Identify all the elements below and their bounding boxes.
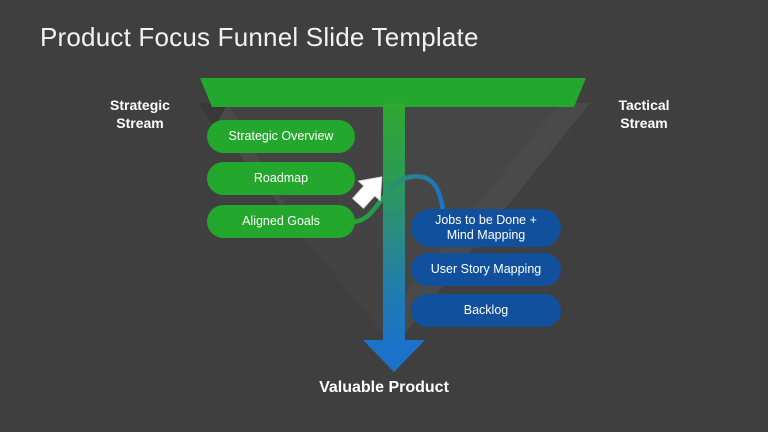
outcome-label: Valuable Product [258,379,510,397]
funnel-diagram [0,0,768,432]
tactical-stream-label: Tactical Stream [592,97,696,132]
strategic-item-strategic-overview[interactable]: Strategic Overview [207,120,355,153]
strategic-item-aligned-goals[interactable]: Aligned Goals [207,205,355,238]
strategic-stream-label: Strategic Stream [88,97,192,132]
funnel-top-cap [200,78,586,107]
tactical-item-backlog[interactable]: Backlog [411,294,561,327]
tactical-item-jobs-to-be-done[interactable]: Jobs to be Done + Mind Mapping [411,209,561,247]
strategic-item-roadmap[interactable]: Roadmap [207,162,355,195]
tactical-item-user-story-mapping[interactable]: User Story Mapping [411,253,561,286]
slide-canvas: Product Focus Funnel Slide Template [0,0,768,432]
